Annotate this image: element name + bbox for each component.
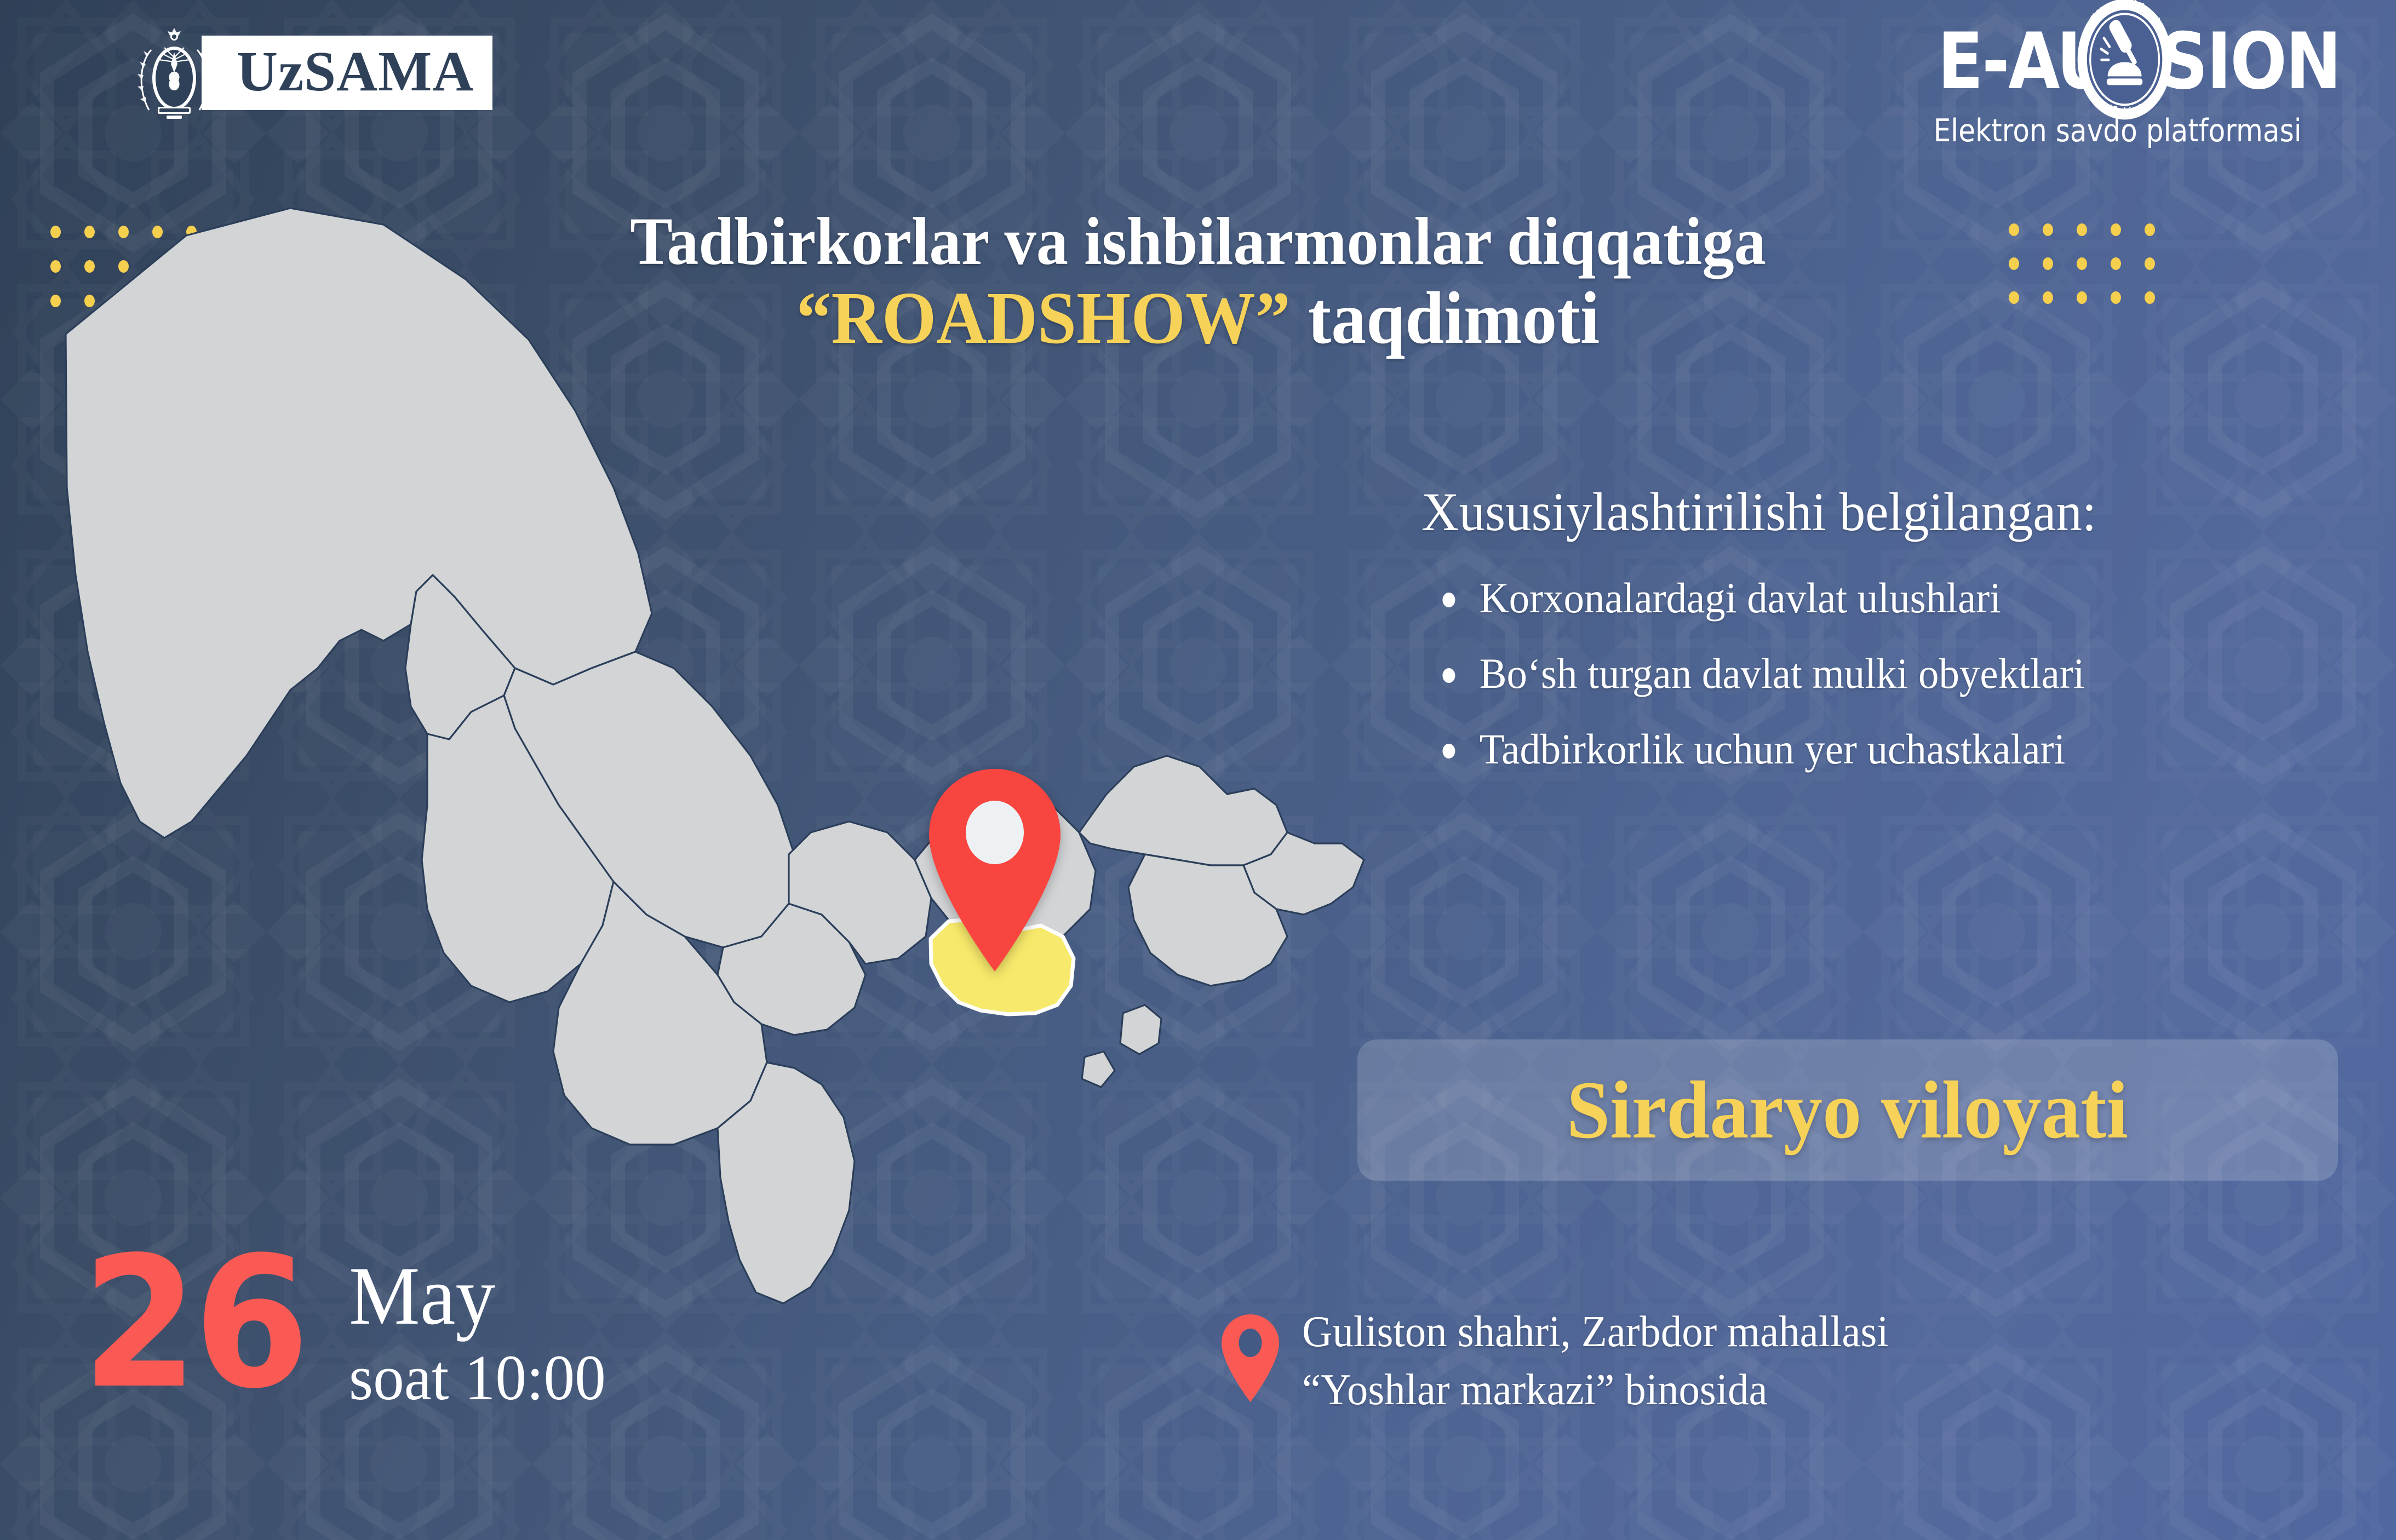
address-line-1: Guliston shahri, Zarbdor mahallasi (1302, 1303, 1889, 1361)
list-item: Korxonalardagi davlat ulushlari (1421, 573, 2315, 623)
headline-line-2: “ROADSHOW” taqdimoti (72, 280, 2324, 357)
event-date-right: May soat 10:00 (349, 1258, 616, 1413)
event-month: May (349, 1258, 606, 1335)
list-title: Xususiylashtirilishi belgilangan: (1421, 482, 2306, 542)
address-line-2: “Yoshlar markazi” binosida (1302, 1361, 1889, 1420)
auction-gavel-seal-icon: Elektron savdo platformasi ★ E-auksion ★ (2074, 0, 2174, 122)
headline-block: Tadbirkorlar va ishbilarmonlar diqqatiga… (0, 207, 2396, 357)
event-address-block: Guliston shahri, Zarbdor mahallasi “Yosh… (1222, 1303, 1913, 1419)
map-pin-icon (1222, 1314, 1279, 1402)
uzsama-wordmark-text: UzSAMA (237, 40, 474, 103)
region-name: Sirdaryo viloyati (1567, 1069, 2128, 1151)
list-item: Tadbirkorlik uchun yer uchastkalari (1421, 724, 2315, 774)
poster-root: UzSAMA E-AUKSION Elektron s (0, 0, 2396, 1540)
event-address-text: Guliston shahri, Zarbdor mahallasi “Yosh… (1302, 1303, 1913, 1419)
uzsama-wordmark: UzSAMA (202, 36, 492, 110)
map-provinces (66, 208, 1364, 1303)
region-banner: Sirdaryo viloyati (1357, 1039, 2338, 1181)
eauksion-logo: E-AUKSION Elektron savdo platformasi ★ (1908, 19, 2325, 149)
eauksion-wordmark: E-AUKSION Elektron savdo platformasi ★ (1938, 19, 2296, 105)
headline-line-1: Tadbirkorlar va ishbilarmonlar diqqatiga (72, 207, 2324, 276)
headline-highlight: “ROADSHOW” (796, 277, 1291, 359)
event-date-block: 26 May soat 10:00 (82, 1246, 617, 1413)
list-item: Bo‘sh turgan davlat mulki obyektlari (1421, 648, 2315, 699)
event-day: 26 (82, 1246, 306, 1401)
list-items: Korxonalardagi davlat ulushlari Bo‘sh tu… (1421, 573, 2353, 774)
headline-line-2-rest: taqdimoti (1291, 277, 1600, 359)
event-time: soat 10:00 (349, 1342, 606, 1413)
uzbekistan-state-emblem-icon (130, 25, 218, 120)
eauksion-tagline: Elektron savdo platformasi (1934, 113, 2300, 149)
uzsama-logo: UzSAMA (130, 25, 492, 120)
privatization-list-block: Xususiylashtirilishi belgilangan: Korxon… (1421, 482, 2353, 800)
